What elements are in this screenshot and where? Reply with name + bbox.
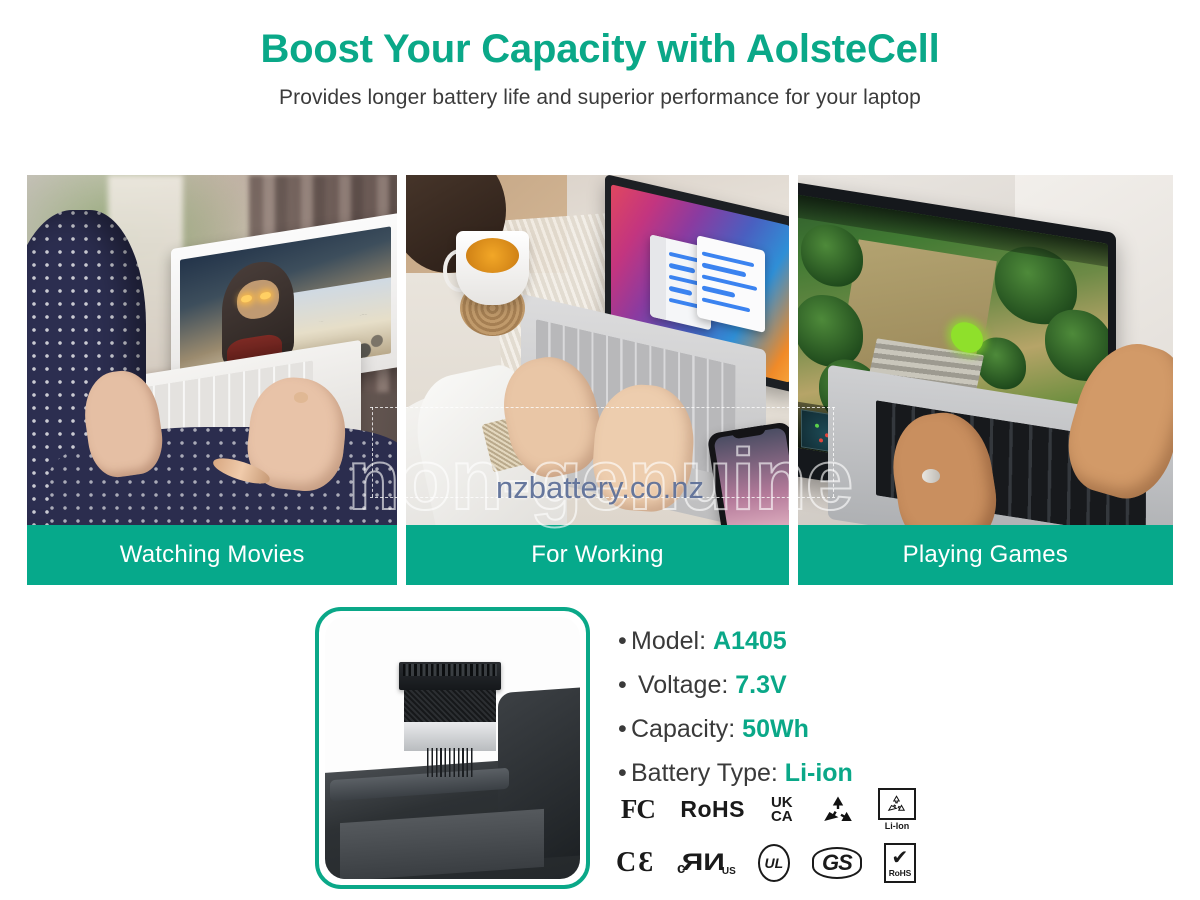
- photo-playing-games: [798, 175, 1173, 525]
- panel-caption-for-working: For Working: [406, 525, 788, 585]
- spec-value-voltage: 7.3V: [735, 671, 786, 699]
- use-case-panel-playing-games[interactable]: Playing Games: [798, 175, 1173, 585]
- liion-label: Li-Ion: [885, 821, 910, 831]
- rohs-check-icon: ✔ RoHS: [884, 843, 916, 883]
- liion-recycle-icon: Li-Ion: [878, 788, 916, 831]
- spec-bullet-icon: •: [618, 761, 631, 786]
- spec-label-voltage: Voltage:: [631, 671, 728, 699]
- ul-icon: UL: [758, 844, 790, 882]
- spec-item-capacity: •Capacity: 50Wh: [618, 717, 938, 742]
- spec-label-battery-type: Battery Type:: [631, 759, 778, 787]
- spec-bullet-icon: •: [618, 717, 631, 742]
- photo-watching-movies: [27, 175, 397, 525]
- recycle-icon: [820, 795, 856, 825]
- spec-value-battery-type: Li-ion: [785, 759, 853, 787]
- culus-icon: c ЯИ US: [677, 849, 736, 877]
- check-mark-icon: ✔: [891, 848, 908, 868]
- ce-icon: CƐ: [616, 847, 655, 879]
- spec-value-capacity: 50Wh: [742, 715, 809, 743]
- spec-label-capacity: Capacity:: [631, 715, 735, 743]
- photo-for-working: [406, 175, 788, 525]
- certification-row-2: CƐ c ЯИ US UL GS ✔ RoHS: [616, 840, 916, 885]
- spec-bullet-icon: •: [618, 629, 631, 654]
- culus-mark: ЯИ: [682, 849, 725, 877]
- ukca-icon: UK CA: [766, 796, 798, 824]
- product-detail-section: •Model: A1405 • Voltage: 7.3V •Capacity:…: [0, 607, 1200, 900]
- certification-row-1: FC RoHS UK CA: [616, 787, 916, 832]
- ukca-line-2: CA: [771, 810, 793, 824]
- rohs-icon: RoHS: [682, 796, 744, 823]
- use-case-panel-row: Watching Movies: [27, 175, 1173, 585]
- use-case-panel-watching-movies[interactable]: Watching Movies: [27, 175, 397, 585]
- panel-caption-playing-games: Playing Games: [798, 525, 1173, 585]
- product-image-frame[interactable]: [315, 607, 590, 889]
- product-image: [325, 617, 580, 879]
- page-header: Boost Your Capacity with AolsteCell Prov…: [0, 0, 1200, 110]
- spec-list: •Model: A1405 • Voltage: 7.3V •Capacity:…: [618, 629, 938, 805]
- spec-bullet-icon: •: [618, 673, 631, 698]
- spec-item-battery-type: •Battery Type: Li-ion: [618, 761, 938, 786]
- use-case-panel-for-working[interactable]: For Working: [406, 175, 788, 585]
- page-subtitle: Provides longer battery life and superio…: [0, 86, 1200, 110]
- spec-value-model: A1405: [713, 627, 787, 655]
- spec-item-voltage: • Voltage: 7.3V: [618, 673, 938, 698]
- page-title: Boost Your Capacity with AolsteCell: [0, 26, 1200, 72]
- gs-icon: GS: [812, 847, 862, 879]
- panel-caption-watching-movies: Watching Movies: [27, 525, 397, 585]
- fcc-icon: FC: [616, 794, 660, 825]
- certification-badges: FC RoHS UK CA: [616, 787, 916, 885]
- spec-item-model: •Model: A1405: [618, 629, 938, 654]
- rohs-check-label: RoHS: [889, 868, 911, 878]
- spec-label-model: Model:: [631, 627, 706, 655]
